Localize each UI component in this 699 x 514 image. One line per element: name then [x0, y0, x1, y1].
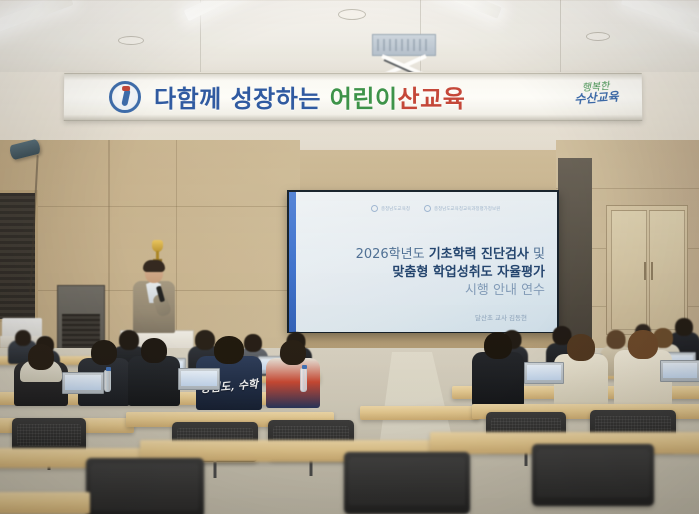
- table: [360, 406, 480, 420]
- banner-text: 다함께 성장하는 어린이산교육: [154, 79, 465, 114]
- water-bottle: [104, 370, 111, 392]
- ceiling-vent-icon: [118, 36, 144, 45]
- ceiling-light: [184, 0, 263, 21]
- cabinet-handle-icon[interactable]: [651, 262, 653, 280]
- banner-script-line-2: 수산교육: [574, 91, 619, 105]
- ceiling-light: [0, 0, 73, 36]
- slide-title-emphasis-1: 기초학력 진단검사: [429, 247, 529, 262]
- banner-segment-3: 산교육: [398, 85, 466, 113]
- ceiling-vent-icon: [586, 32, 610, 41]
- presenter-hair: [143, 260, 165, 272]
- logo-label: 충청남도교육청: [381, 206, 410, 212]
- audience-member: [128, 338, 180, 406]
- hanging-banner: 다함께 성장하는 어린이산교육 행복한 수산교육: [64, 73, 643, 121]
- wall-cabinet: [606, 205, 688, 335]
- laptop: [178, 368, 220, 390]
- water-bottle: [300, 368, 307, 392]
- slide-logo-row: 충청남도교육청 충청남도교육청교육과정평가정보원: [371, 203, 506, 214]
- chair: [86, 458, 204, 514]
- presenter: [131, 262, 177, 332]
- banner-handwritten-mark: 행복한 수산교육: [573, 81, 619, 106]
- classroom-photo: 다함께 성장하는 어린이산교육 행복한 수산교육: [0, 0, 699, 514]
- banner-segment-2: 어린이: [330, 85, 398, 113]
- ceiling-vent-icon: [338, 9, 366, 20]
- logo-mark-icon: [371, 205, 378, 212]
- chair: [532, 444, 654, 506]
- cabinet-door-right[interactable]: [649, 210, 685, 330]
- table: [0, 492, 90, 514]
- cabinet-door-left[interactable]: [611, 210, 647, 330]
- projector-ceiling-plate: [372, 34, 436, 56]
- slide-title-line-1: 2026학년도 기초학력 진단검사 및: [301, 246, 545, 264]
- education-research-institute-logo: 충청남도교육청교육과정평가정보원: [424, 205, 500, 212]
- slide-accent-bar: [289, 192, 296, 332]
- ceiling-light: [621, 0, 699, 37]
- audience-member: [472, 332, 524, 406]
- laptop: [660, 360, 699, 382]
- chair: [344, 452, 470, 514]
- slide-title-year: 2026학년도: [356, 247, 429, 262]
- provincial-office-of-education-logo: 충청남도교육청: [371, 205, 410, 212]
- slide-title-conjunction: 및: [529, 247, 545, 262]
- audience-member: [14, 344, 68, 406]
- slide-title: 2026학년도 기초학력 진단검사 및 맞춤형 학업성취도 자율평가 시행 안내…: [301, 246, 545, 300]
- ceiling: [0, 0, 699, 74]
- laptop: [62, 372, 104, 394]
- logo-mark-icon: [424, 205, 431, 212]
- slide-title-line-3: 시행 안내 연수: [301, 282, 545, 300]
- projection-screen: 충청남도교육청 충청남도교육청교육과정평가정보원 2026학년도 기초학력 진단…: [289, 192, 557, 332]
- slide-presenter-credit: 달산초 교사 김동현: [475, 312, 527, 322]
- audience-member: [266, 340, 320, 408]
- banner-segment-1: 다함께 성장하는: [154, 85, 330, 113]
- cabinet-handle-icon[interactable]: [644, 262, 646, 280]
- school-emblem-icon: [109, 81, 141, 113]
- ceiling-light: [432, 0, 501, 19]
- slide-title-line-2: 맞춤형 학업성취도 자율평가: [301, 264, 545, 282]
- logo-label: 충청남도교육청교육과정평가정보원: [434, 206, 500, 212]
- laptop: [524, 362, 564, 384]
